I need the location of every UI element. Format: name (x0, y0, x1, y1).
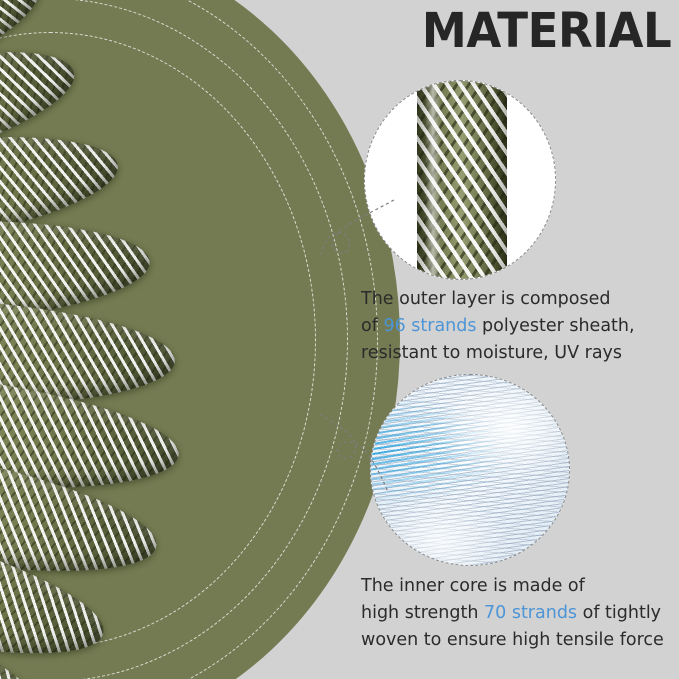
sheath-highlight (425, 80, 441, 280)
rope-hero-image (0, 0, 330, 679)
inset-image-inner-core (370, 374, 570, 566)
caption-line: The outer layer is composed (361, 286, 635, 313)
caption-text: of (361, 316, 383, 336)
strand-count: 96 strands (383, 316, 476, 336)
caption-line: of 96 strands polyester sheath, (361, 313, 635, 340)
core-fiber-sheen (371, 375, 569, 565)
caption-line: The inner core is made of (361, 573, 664, 600)
caption-text: The inner core is made of (361, 576, 585, 596)
material-infographic: MATERIAL The outer layer is composedof 9… (0, 0, 679, 679)
page-title: MATERIAL (422, 6, 671, 58)
caption-text: polyester sheath, (476, 316, 634, 336)
strand-count: 70 strands (484, 603, 577, 623)
caption-line: resistant to moisture, UV rays (361, 340, 635, 367)
caption-outer-sheath: The outer layer is composedof 96 strands… (361, 286, 635, 366)
caption-text: resistant to moisture, UV rays (361, 343, 622, 363)
caption-line: woven to ensure high tensile force (361, 627, 664, 654)
caption-text: of tightly (577, 603, 661, 623)
caption-text: woven to ensure high tensile force (361, 630, 664, 650)
caption-inner-core: The inner core is made ofhigh strength 7… (361, 573, 664, 653)
inset-image-outer-sheath (364, 80, 556, 280)
caption-line: high strength 70 strands of tightly (361, 600, 664, 627)
caption-text: The outer layer is composed (361, 289, 611, 309)
caption-text: high strength (361, 603, 484, 623)
